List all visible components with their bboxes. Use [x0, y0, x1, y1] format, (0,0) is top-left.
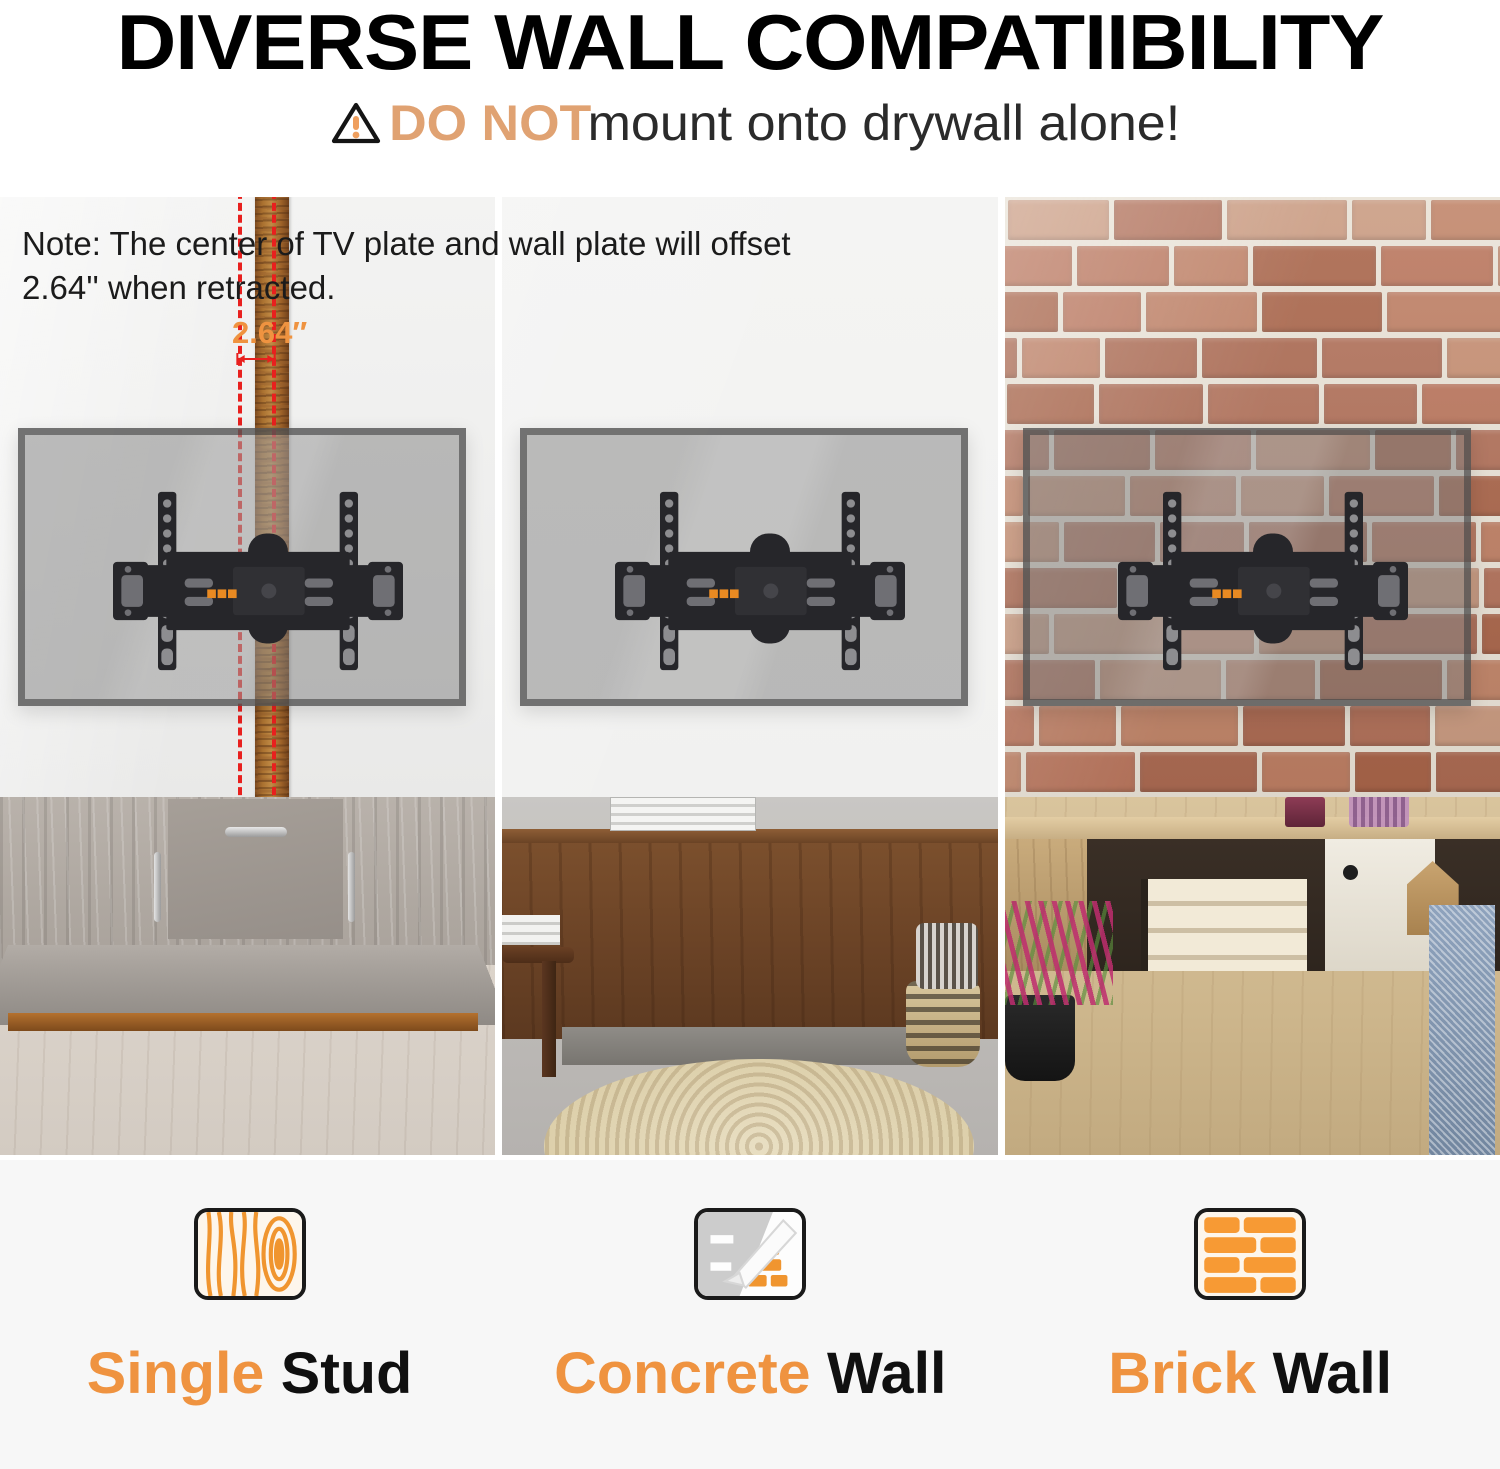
- legend-label-brick-wall: Brick Wall: [1108, 1340, 1392, 1407]
- brick: [1005, 246, 1072, 286]
- legend-plain-word: Stud: [281, 1341, 412, 1406]
- brick: [1481, 522, 1500, 562]
- room-scene-concrete: [502, 797, 997, 1155]
- woven-basket-large: [906, 981, 980, 1067]
- tv-mount-brick: ◼◼◼: [1113, 485, 1413, 677]
- legend-item-brick-wall[interactable]: Brick Wall: [1000, 1160, 1500, 1469]
- concrete-trowel-icon: [694, 1208, 806, 1300]
- side-table-leg: [542, 961, 556, 1077]
- brick: [1484, 568, 1500, 608]
- brick: [1007, 384, 1094, 424]
- room-scene-brick: [1005, 797, 1500, 1155]
- warning-subtitle: DO NOT mount onto drywall alone!: [0, 94, 1500, 152]
- brick: [1063, 292, 1141, 332]
- brick: [1146, 292, 1257, 332]
- brick: [1208, 384, 1319, 424]
- offset-note: Note: The center of TV plate and wall pl…: [22, 222, 822, 310]
- wall-type-legend: Single Stud Concrete Wall: [0, 1160, 1500, 1469]
- sideboard-top-surface: [502, 829, 997, 843]
- brick: [1099, 384, 1203, 424]
- brick: [1022, 338, 1100, 378]
- console-top-board: [1005, 817, 1500, 839]
- tv-mount-concrete: ◼◼◼: [610, 485, 910, 677]
- brick: [1243, 706, 1345, 746]
- offset-dimension-arrow: [236, 352, 276, 366]
- brick: [1077, 246, 1169, 286]
- heather-plant-flowers: [1005, 901, 1113, 1005]
- tv-mount-stud: ◼◼◼: [108, 485, 408, 677]
- brick-row: [1005, 703, 1500, 749]
- brick: [1005, 338, 1017, 378]
- brick: [1387, 292, 1500, 332]
- glass-vase-purple: [1349, 797, 1409, 827]
- blue-fabric-chair: [1429, 905, 1495, 1155]
- brick: [1005, 292, 1058, 332]
- brick: [1039, 706, 1116, 746]
- brick: [1202, 338, 1317, 378]
- warning-triangle-icon: [331, 101, 381, 145]
- book-stack-on-sideboard: [610, 797, 756, 831]
- cabinet-handle-right: [348, 852, 355, 922]
- brick-row: [1005, 289, 1500, 335]
- brick-row: [1005, 381, 1500, 427]
- page-title: DIVERSE WALL COMPATIIBILITY: [0, 4, 1500, 80]
- legend-item-concrete-wall[interactable]: Concrete Wall: [500, 1160, 1000, 1469]
- legend-label-single-stud: Single Stud: [87, 1340, 412, 1407]
- brick: [1435, 706, 1500, 746]
- legend-accent-word: Brick: [1108, 1341, 1256, 1406]
- side-table: [502, 947, 574, 963]
- brick: [1447, 338, 1500, 378]
- brick: [1355, 752, 1431, 792]
- brick: [1253, 246, 1376, 286]
- brick: [1262, 752, 1350, 792]
- brick: [1227, 200, 1347, 240]
- brick-row: [1005, 335, 1500, 381]
- brick: [1140, 752, 1257, 792]
- mount-brand-mark: ◼◼◼: [1211, 586, 1242, 600]
- wood-grain-icon: [194, 1208, 306, 1300]
- brick: [1381, 246, 1493, 286]
- brick: [1008, 200, 1109, 240]
- do-not-text: DO NOT: [389, 94, 591, 152]
- woven-basket-small: [916, 923, 978, 989]
- brick: [1114, 200, 1222, 240]
- brick: [1005, 752, 1021, 792]
- cabinet-door-center: [168, 799, 343, 939]
- panel-concrete-wall: ◼◼◼: [502, 197, 997, 1155]
- cabinet-handle-left: [154, 852, 161, 922]
- header: DIVERSE WALL COMPATIIBILITY DO NOT mount…: [0, 0, 1500, 152]
- console-door-knob: [1343, 865, 1358, 880]
- candle-holder-purple: [1285, 797, 1325, 827]
- legend-plain-word: Wall: [1273, 1341, 1392, 1406]
- brick-row: [1005, 197, 1500, 243]
- legend-label-concrete-wall: Concrete Wall: [554, 1340, 946, 1407]
- brick: [1352, 200, 1426, 240]
- legend-accent-word: Concrete: [554, 1341, 810, 1406]
- wall-area-brick: ◼◼◼: [1005, 197, 1500, 797]
- panel-single-stud: ◼◼◼ 2.64″: [0, 197, 495, 1155]
- legend-accent-word: Single: [87, 1341, 265, 1406]
- brick: [1482, 614, 1500, 654]
- brick-row: [1005, 243, 1500, 289]
- cabinet-handle-top: [225, 827, 287, 837]
- brick: [1121, 706, 1238, 746]
- brick: [1422, 384, 1500, 424]
- brick: [1005, 476, 1023, 516]
- drawer-wood-edge: [8, 1013, 478, 1031]
- brick: [1174, 246, 1248, 286]
- brick: [1431, 200, 1500, 240]
- brick: [1322, 338, 1442, 378]
- mount-brand-mark: ◼◼◼: [709, 586, 740, 600]
- brick: [1262, 292, 1382, 332]
- offset-dimension-label: 2.64″: [232, 315, 307, 351]
- room-scene-stud: [0, 797, 495, 1155]
- brick: [1005, 706, 1034, 746]
- panel-brick-wall: ◼◼◼: [1005, 197, 1500, 1155]
- brick: [1026, 752, 1135, 792]
- mount-brand-mark: ◼◼◼: [206, 586, 237, 600]
- brick: [1436, 752, 1500, 792]
- heather-plant-pot: [1005, 995, 1075, 1081]
- brick: [1105, 338, 1197, 378]
- brick: [1350, 706, 1430, 746]
- book-stack-on-side-table: [502, 915, 560, 945]
- legend-item-single-stud[interactable]: Single Stud: [0, 1160, 500, 1469]
- brick-pattern-icon: [1194, 1208, 1306, 1300]
- brick-row: [1005, 749, 1500, 795]
- panel-row: ◼◼◼ 2.64″: [0, 197, 1500, 1155]
- legend-plain-word: Wall: [827, 1341, 946, 1406]
- subtitle-rest-text: mount onto drywall alone!: [588, 94, 1181, 152]
- brick: [1324, 384, 1417, 424]
- book-stack-on-console: [1141, 879, 1307, 971]
